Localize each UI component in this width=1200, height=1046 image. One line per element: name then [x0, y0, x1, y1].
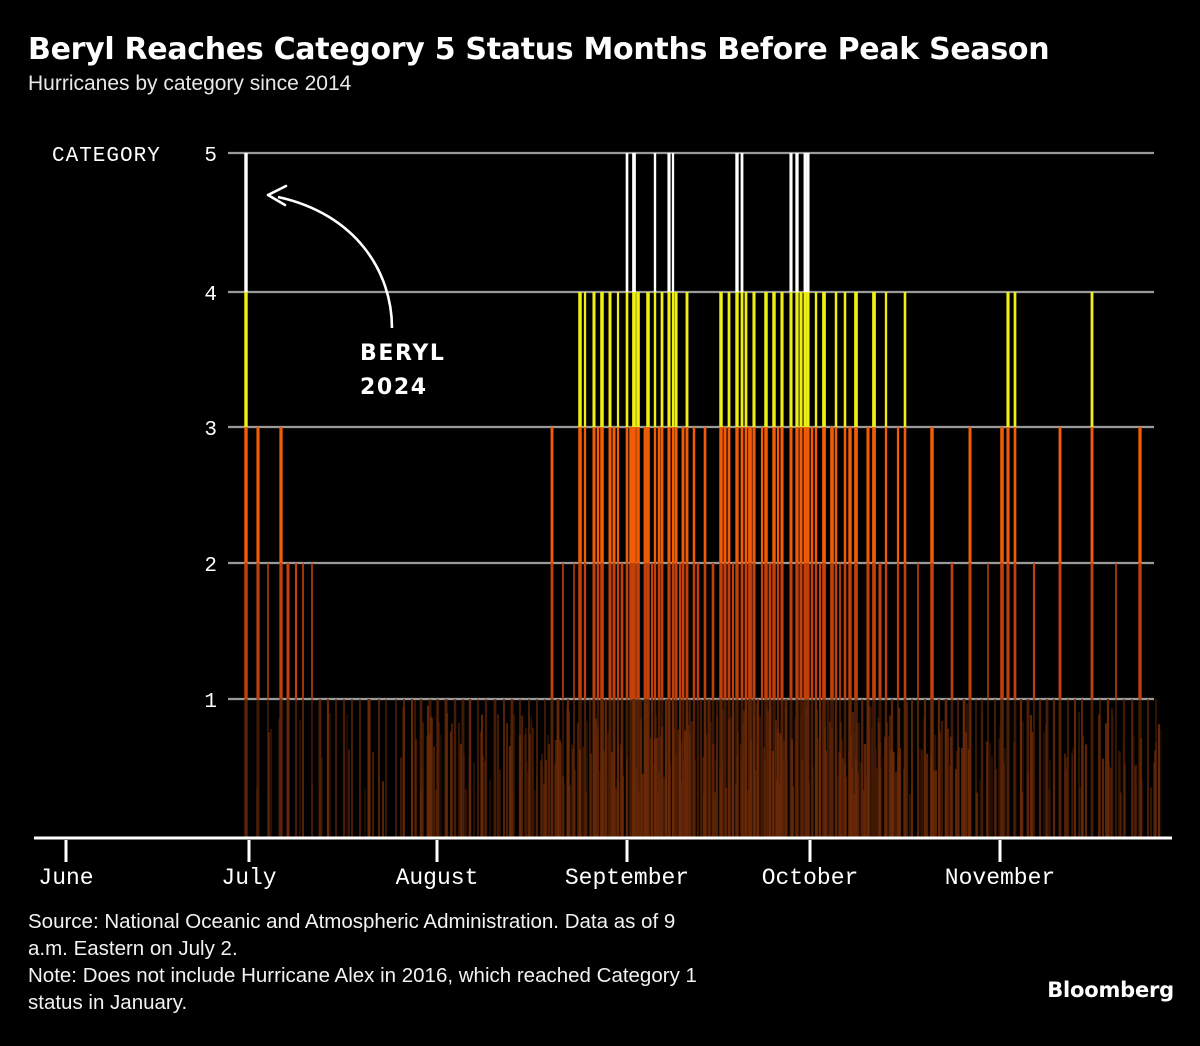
- y-axis-labels: 12345CATEGORY: [52, 145, 218, 714]
- x-tick-label-september: September: [565, 865, 689, 891]
- y-tick-label-1: 1: [204, 691, 218, 714]
- chart-page: Beryl Reaches Category 5 Status Months B…: [0, 0, 1200, 1046]
- note-text: Note: Does not include Hurricane Alex in…: [28, 962, 1038, 1016]
- y-tick-label-5: 5: [204, 145, 218, 168]
- y-tick-label-2: 2: [204, 555, 218, 578]
- hurricane-category-chart: 12345CATEGORY JuneJulyAugustSeptemberOct…: [0, 0, 1200, 1046]
- chart-footer: Source: National Oceanic and Atmospheric…: [28, 908, 1038, 1016]
- x-tick-label-october: October: [762, 865, 859, 891]
- chart-plot-area: 12345CATEGORY JuneJulyAugustSeptemberOct…: [0, 0, 1200, 1046]
- x-axis-labels: JuneJulyAugustSeptemberOctoberNovember: [38, 865, 1055, 891]
- storm-lines-group: [246, 153, 1161, 838]
- source-text: Source: National Oceanic and Atmospheric…: [28, 908, 1038, 962]
- x-axis: [34, 838, 1172, 862]
- x-tick-label-july: July: [221, 865, 276, 891]
- annotation-arrow-curve: [278, 197, 392, 328]
- y-tick-label-4: 4: [204, 284, 218, 307]
- annotation-arrowhead-icon: [268, 186, 286, 205]
- annotation-label-line2: 2024: [360, 375, 428, 400]
- annotation-label-line1: BERYL: [360, 341, 445, 366]
- x-tick-label-june: June: [38, 865, 93, 891]
- x-tick-label-november: November: [945, 865, 1055, 891]
- x-tick-label-august: August: [396, 865, 479, 891]
- y-axis-title: CATEGORY: [52, 145, 161, 168]
- y-tick-label-3: 3: [204, 419, 218, 442]
- bloomberg-logo: Bloomberg: [1047, 978, 1174, 1002]
